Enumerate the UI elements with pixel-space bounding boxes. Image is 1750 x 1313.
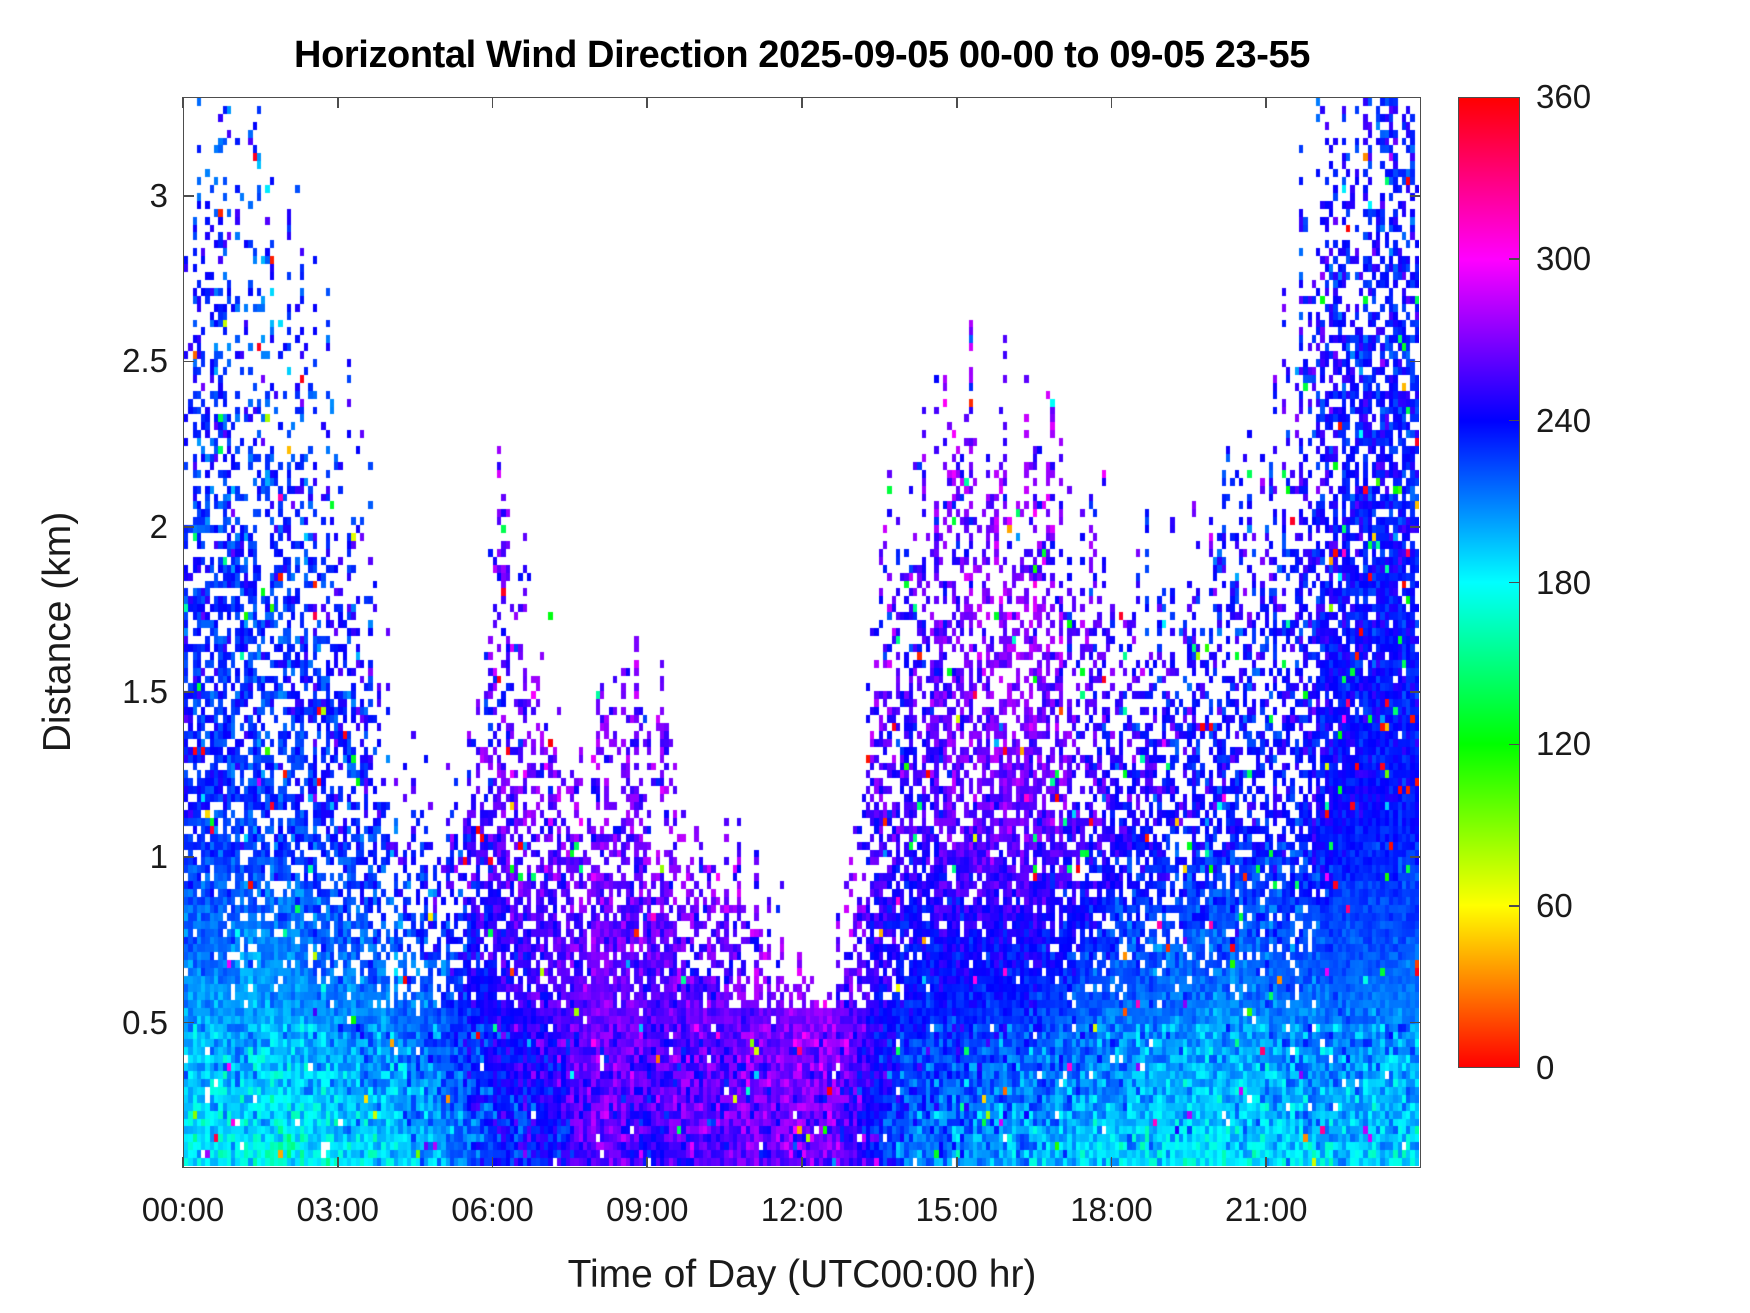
y-tick-mark xyxy=(183,856,194,858)
x-tick-label: 21:00 xyxy=(1225,1191,1308,1229)
x-tick-mark xyxy=(646,1157,648,1168)
y-tick-mark xyxy=(1410,856,1421,858)
x-tick-mark xyxy=(182,1157,184,1168)
x-tick-label: 09:00 xyxy=(606,1191,689,1229)
y-tick-mark xyxy=(183,526,194,528)
wind-direction-figure: Horizontal Wind Direction 2025-09-05 00-… xyxy=(0,0,1750,1313)
y-tick-label: 0.5 xyxy=(33,1004,168,1042)
x-tick-label: 03:00 xyxy=(296,1191,379,1229)
colorbar-tick-label: 240 xyxy=(1536,402,1591,440)
y-tick-mark xyxy=(1410,1022,1421,1024)
x-tick-label: 18:00 xyxy=(1070,1191,1153,1229)
page-title: Horizontal Wind Direction 2025-09-05 00-… xyxy=(183,34,1421,77)
colorbar-tick-mark xyxy=(1509,582,1520,584)
colorbar-tick-label: 60 xyxy=(1536,887,1573,925)
x-tick-mark xyxy=(182,97,184,108)
colorbar-tick-mark xyxy=(1509,905,1520,907)
colorbar-tick-mark xyxy=(1509,258,1520,260)
y-tick-mark xyxy=(1410,691,1421,693)
colorbar-tick-label: 300 xyxy=(1536,240,1591,278)
x-tick-mark xyxy=(1265,97,1267,108)
y-tick-mark xyxy=(183,691,194,693)
colorbar-tick-mark xyxy=(1509,420,1520,422)
x-tick-mark xyxy=(492,97,494,108)
x-tick-label: 15:00 xyxy=(915,1191,998,1229)
x-tick-label: 06:00 xyxy=(451,1191,534,1229)
x-tick-mark xyxy=(492,1157,494,1168)
y-axis-title: Distance (km) xyxy=(36,282,80,982)
x-tick-mark xyxy=(956,97,958,108)
y-tick-label: 3 xyxy=(33,177,168,215)
colorbar-tick-mark xyxy=(1509,744,1520,746)
y-tick-mark xyxy=(183,1022,194,1024)
x-tick-mark xyxy=(801,1157,803,1168)
y-tick-mark xyxy=(1410,526,1421,528)
x-tick-mark xyxy=(337,1157,339,1168)
x-tick-mark xyxy=(956,1157,958,1168)
x-tick-label: 00:00 xyxy=(142,1191,225,1229)
x-tick-mark xyxy=(1265,1157,1267,1168)
heatmap-plot-area[interactable] xyxy=(183,97,1421,1168)
colorbar-tick-label: 360 xyxy=(1536,78,1591,116)
x-tick-label: 12:00 xyxy=(761,1191,844,1229)
x-tick-mark xyxy=(1111,1157,1113,1168)
y-tick-mark xyxy=(183,361,194,363)
x-tick-mark xyxy=(337,97,339,108)
y-tick-mark xyxy=(1410,195,1421,197)
colorbar-tick-label: 120 xyxy=(1536,725,1591,763)
x-axis-title: Time of Day (UTC00:00 hr) xyxy=(183,1253,1421,1297)
x-tick-mark xyxy=(1111,97,1113,108)
x-tick-mark xyxy=(801,97,803,108)
y-tick-mark xyxy=(183,195,194,197)
heatmap-canvas xyxy=(184,98,1419,1166)
x-tick-mark xyxy=(646,97,648,108)
colorbar-tick-label: 0 xyxy=(1536,1049,1554,1087)
y-tick-mark xyxy=(1410,361,1421,363)
colorbar-tick-label: 180 xyxy=(1536,564,1591,602)
